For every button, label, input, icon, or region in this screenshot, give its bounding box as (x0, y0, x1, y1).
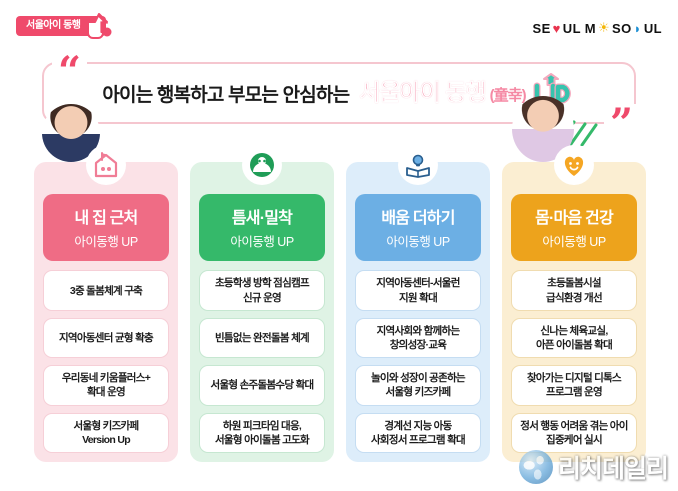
column-items-gap-care: 초등학생 방학 점심캠프 신규 운영 빈틈없는 완전돌봄 체계 서울형 손주돌봄… (199, 270, 325, 453)
house-with-flag-icon (90, 149, 122, 181)
watermark: 리치데일리 (519, 449, 668, 485)
open-book-lightbulb-icon (402, 149, 434, 181)
list-item[interactable]: 빈틈없는 완전돌봄 체계 (199, 318, 325, 358)
column-badge-learning (398, 145, 438, 185)
column-badge-health (554, 145, 594, 185)
heart-smiley-icon (558, 149, 590, 181)
quote-close-mark: ” (604, 104, 639, 144)
list-item[interactable]: 지역사회와 함께하는 창의성장·교육 (355, 318, 481, 358)
column-subtitle: 아이동행 UP (515, 231, 633, 250)
column-subtitle: 아이동행 UP (359, 231, 477, 250)
brand-up-arrow-icon (84, 13, 114, 39)
column-header-learning: 배움 더하기 아이동행 UP (355, 194, 481, 261)
column-header-gap-care: 틈새·밀착 아이동행 UP (199, 194, 325, 261)
column-subtitle: 아이동행 UP (47, 231, 165, 250)
seoul-logo-drop-icon: ◗ (634, 21, 642, 36)
list-item[interactable]: 지역아동센터 균형 확충 (43, 318, 169, 358)
program-column-home: 내 집 근처 아이동행 UP 3중 돌봄체계 구축 지역아동센터 균형 확충 우… (34, 162, 178, 462)
globe-icon (519, 450, 553, 484)
headline-left-text: 아이는 행복하고 부모는 안심하는 (102, 80, 349, 107)
list-item[interactable]: 찾아가는 디지털 디톡스 프로그램 운영 (511, 365, 637, 405)
list-item[interactable]: 놀이와 성장이 공존하는 서울형 키즈카페 (355, 365, 481, 405)
column-items-health: 초등돌봄시설 급식환경 개선 신나는 체육교실, 아픈 아이돌봄 확대 찾아가는… (511, 270, 637, 453)
column-items-learning: 지역아동센터-서울런 지원 확대 지역사회와 함께하는 창의성장·교육 놀이와 … (355, 270, 481, 453)
headline-brand-seoul: 서울아이 동행 (359, 73, 485, 107)
list-item[interactable]: 우리동네 키움플러스+ 확대 운영 (43, 365, 169, 405)
list-item[interactable]: 초등학생 방학 점심캠프 신규 운영 (199, 270, 325, 310)
column-badge-gap-care (242, 145, 282, 185)
program-columns: 내 집 근처 아이동행 UP 3중 돌봄체계 구축 지역아동센터 균형 확충 우… (34, 162, 646, 462)
column-subtitle: 아이동행 UP (203, 231, 321, 250)
list-item[interactable]: 서울형 키즈카페 Version Up (43, 413, 169, 453)
column-items-home: 3중 돌봄체계 구축 지역아동센터 균형 확충 우리동네 키움플러스+ 확대 운… (43, 270, 169, 453)
list-item[interactable]: 3중 돌봄체계 구축 (43, 270, 169, 310)
seoul-logo-part4: UL (644, 21, 662, 36)
program-column-health: 몸·마음 건강 아이동행 UP 초등돌봄시설 급식환경 개선 신나는 체육교실,… (502, 162, 646, 462)
column-title: 틈새·밀착 (203, 210, 321, 228)
seoul-logo-part1: SE (533, 21, 551, 36)
quote-open-mark: “ (52, 52, 87, 92)
column-title: 배움 더하기 (359, 210, 477, 228)
infographic-page: 서울아이 동행 SE♥UL M☀ SO◗UL 아이는 행복하고 부모는 안심하는… (0, 0, 678, 491)
seoul-logo-heart-icon: ♥ (553, 21, 561, 36)
program-column-gap-care: 틈새·밀착 아이동행 UP 초등학생 방학 점심캠프 신규 운영 빈틈없는 완전… (190, 162, 334, 462)
seoul-logo-part3: SO (612, 21, 632, 36)
list-item[interactable]: 서울형 손주돌봄수당 확대 (199, 365, 325, 405)
headline-hanja: (童幸) (490, 84, 526, 105)
seoul-logo-sun-icon: ☀ (598, 20, 610, 36)
list-item[interactable]: 경계선 지능 아동 사회정서 프로그램 확대 (355, 413, 481, 453)
program-column-learning: 배움 더하기 아이동행 UP 지역아동센터-서울런 지원 확대 지역사회와 함께… (346, 162, 490, 462)
column-header-home: 내 집 근처 아이동행 UP (43, 194, 169, 261)
watermark-text: 리치데일리 (558, 449, 668, 485)
column-badge-home (86, 145, 126, 185)
hands-embrace-icon (246, 149, 278, 181)
column-header-health: 몸·마음 건강 아이동행 UP (511, 194, 637, 261)
seoul-my-soul-logo: SE♥UL M☀ SO◗UL (533, 20, 662, 36)
list-item[interactable]: 정서 행동 어려움 겪는 아이 집중케어 실시 (511, 413, 637, 453)
list-item[interactable]: 하원 피크타임 대응, 서울형 아이돌봄 고도화 (199, 413, 325, 453)
column-title: 내 집 근처 (47, 210, 165, 228)
list-item[interactable]: 초등돌봄시설 급식환경 개선 (511, 270, 637, 310)
column-title: 몸·마음 건강 (515, 210, 633, 228)
list-item[interactable]: 신나는 체육교실, 아픈 아이돌봄 확대 (511, 318, 637, 358)
list-item[interactable]: 지역아동센터-서울런 지원 확대 (355, 270, 481, 310)
brand-chip: 서울아이 동행 (16, 14, 114, 38)
seoul-logo-part2: UL M (563, 21, 596, 36)
